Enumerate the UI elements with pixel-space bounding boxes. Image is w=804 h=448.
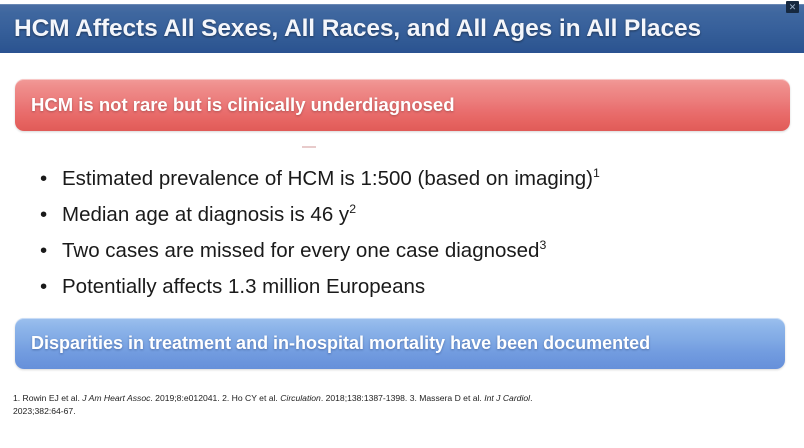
journal-name: Circulation (280, 393, 321, 403)
scan-artifact (302, 146, 316, 148)
bullet-marker: • (40, 199, 47, 230)
list-item-text: Two cases are missed for every one case … (62, 239, 539, 262)
reference-text: . 2019;8:e012041. 2. Ho CY et al. (150, 393, 280, 403)
list-item: •Potentially affects 1.3 million Europea… (38, 271, 738, 302)
bullet-marker: • (40, 235, 47, 266)
list-item-text: Potentially affects 1.3 million European… (62, 275, 425, 298)
red-callout-text: HCM is not rare but is clinically underd… (15, 94, 455, 116)
reference-text: . 2018;138:1387-1398. 3. Massera D et al… (321, 393, 484, 403)
bullet-marker: • (40, 163, 47, 194)
reference-line-1: 1. Rowin EJ et al. J Am Heart Assoc. 201… (13, 392, 793, 405)
list-item-text: Median age at diagnosis is 46 y (62, 203, 349, 226)
list-item-text: Estimated prevalence of HCM is 1:500 (ba… (62, 167, 593, 190)
slide-canvas: HCM Affects All Sexes, All Races, and Al… (0, 0, 804, 448)
red-callout-banner: HCM is not rare but is clinically underd… (15, 79, 790, 131)
close-icon[interactable]: ✕ (786, 1, 799, 13)
list-item-superscript: 3 (539, 238, 546, 252)
reference-text: . (530, 393, 532, 403)
bullet-marker: • (40, 271, 47, 302)
bullet-list: •Estimated prevalence of HCM is 1:500 (b… (38, 163, 738, 307)
reference-line-2: 2023;382:64-67. (13, 405, 793, 418)
journal-name: J Am Heart Assoc (82, 393, 150, 403)
references-block: 1. Rowin EJ et al. J Am Heart Assoc. 201… (13, 392, 793, 417)
list-item: •Two cases are missed for every one case… (38, 235, 738, 266)
blue-callout-text: Disparities in treatment and in-hospital… (15, 333, 650, 354)
blue-callout-banner: Disparities in treatment and in-hospital… (15, 318, 785, 369)
reference-text: 1. Rowin EJ et al. (13, 393, 82, 403)
page-title: HCM Affects All Sexes, All Races, and Al… (14, 15, 701, 43)
journal-name: Int J Cardiol (484, 393, 530, 403)
list-item-superscript: 2 (349, 202, 356, 216)
list-item-superscript: 1 (593, 166, 600, 180)
list-item: •Median age at diagnosis is 46 y2 (38, 199, 738, 230)
list-item: •Estimated prevalence of HCM is 1:500 (b… (38, 163, 738, 194)
slide-title-bar: HCM Affects All Sexes, All Races, and Al… (0, 4, 804, 53)
